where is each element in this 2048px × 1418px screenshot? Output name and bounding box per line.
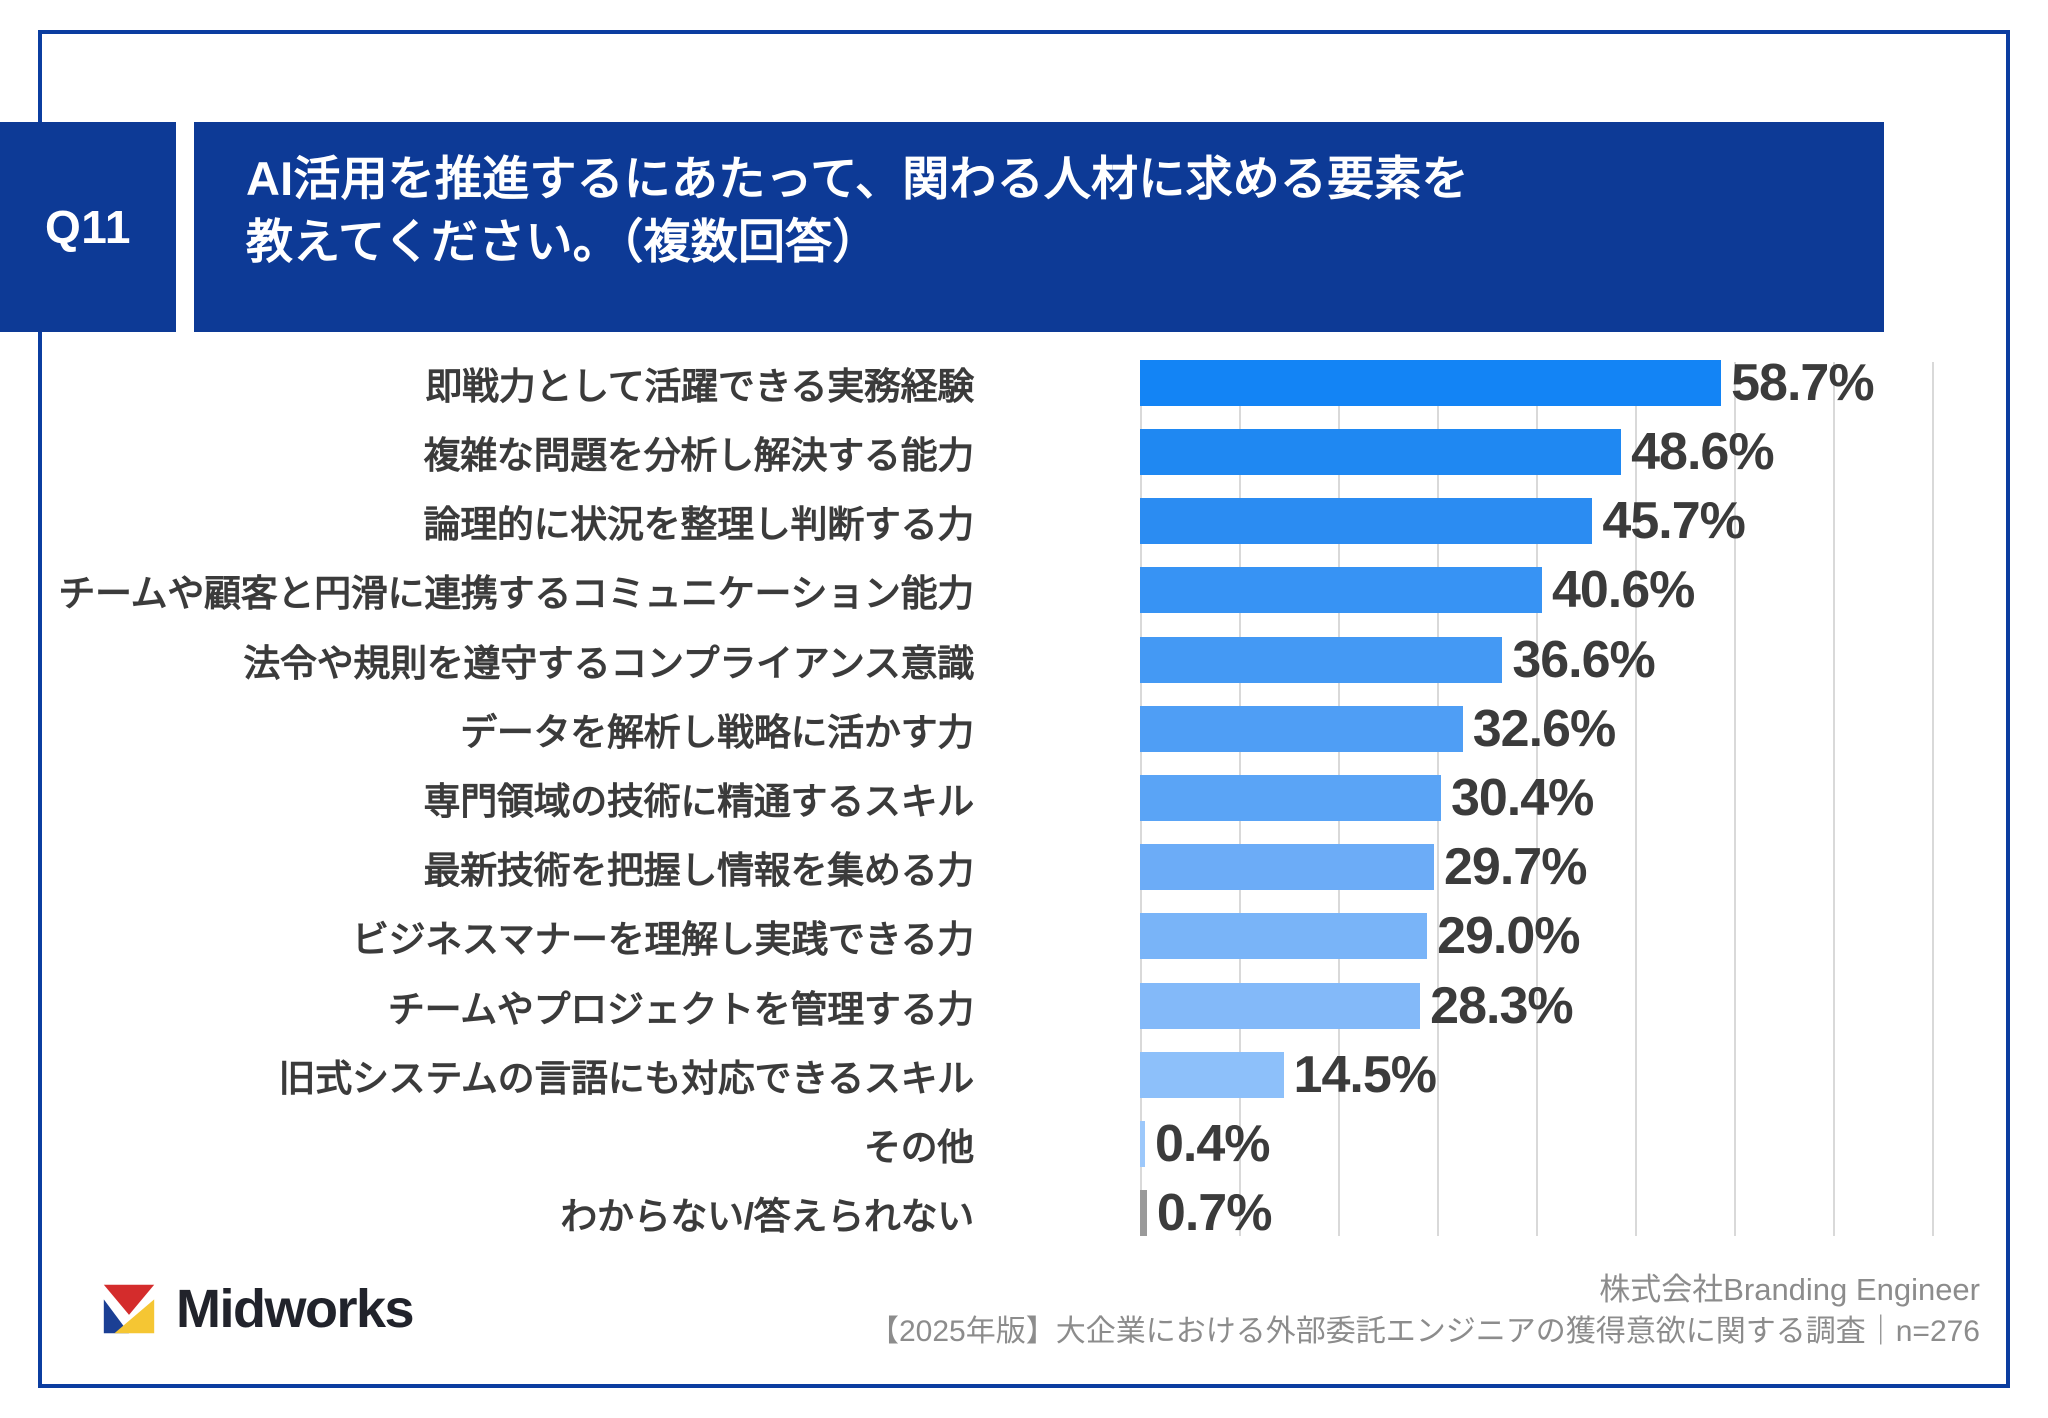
bar-row: 即戦力として活躍できる実務経験58.7% <box>0 348 2048 417</box>
bar-row: 旧式システムの言語にも対応できるスキル14.5% <box>0 1040 2048 1109</box>
bar-row: わからない/答えられない0.7% <box>0 1179 2048 1248</box>
bar <box>1140 429 1621 475</box>
value-label: 30.4% <box>1451 768 1593 828</box>
value-label: 0.4% <box>1155 1114 1270 1174</box>
bar <box>1140 1052 1284 1098</box>
value-label: 40.6% <box>1552 560 1694 620</box>
credit-survey: 【2025年版】大企業における外部委託エンジニアの獲得意欲に関する調査｜n=27… <box>869 1311 1980 1353</box>
midworks-mark-icon <box>98 1278 160 1340</box>
bar-row: データを解析し戦略に活かす力32.6% <box>0 694 2048 763</box>
bar <box>1140 1190 1147 1236</box>
value-label: 14.5% <box>1294 1045 1436 1105</box>
bar-row: チームや顧客と円滑に連携するコミュニケーション能力40.6% <box>0 556 2048 625</box>
bar <box>1140 983 1420 1029</box>
value-label: 28.3% <box>1430 976 1572 1036</box>
question-number-badge: Q11 <box>0 122 176 332</box>
credit-company: 株式会社Branding Engineer <box>869 1268 1980 1311</box>
bar-row: ビジネスマナーを理解し実践できる力29.0% <box>0 902 2048 971</box>
category-label: 最新技術を把握し情報を集める力 <box>424 840 975 894</box>
bar-chart: 即戦力として活躍できる実務経験58.7%複雑な問題を分析し解決する能力48.6%… <box>0 348 2048 1248</box>
category-label: チームや顧客と円滑に連携するコミュニケーション能力 <box>58 563 974 617</box>
value-label: 32.6% <box>1473 699 1615 759</box>
bar <box>1140 844 1434 890</box>
slide-root: Q11 AI活用を推進するにあたって、関わる人材に求める要素を 教えてください。… <box>0 0 2048 1418</box>
category-label: 論理的に状況を整理し判断する力 <box>424 494 975 548</box>
bar-row: 複雑な問題を分析し解決する能力48.6% <box>0 417 2048 486</box>
bar-row: 最新技術を把握し情報を集める力29.7% <box>0 833 2048 902</box>
bar-row: 専門領域の技術に精通するスキル30.4% <box>0 763 2048 832</box>
midworks-wordmark: Midworks <box>176 1282 413 1336</box>
category-label: 専門領域の技術に精通するスキル <box>424 771 975 825</box>
question-number-label: Q11 <box>45 200 131 254</box>
bar <box>1140 706 1463 752</box>
question-title-banner: AI活用を推進するにあたって、関わる人材に求める要素を 教えてください。（複数回… <box>194 122 1884 332</box>
category-label: わからない/答えられない <box>560 1186 974 1240</box>
chart-rows: 即戦力として活躍できる実務経験58.7%複雑な問題を分析し解決する能力48.6%… <box>0 348 2048 1248</box>
value-label: 36.6% <box>1512 630 1654 690</box>
bar-row: 法令や規則を遵守するコンプライアンス意識36.6% <box>0 625 2048 694</box>
credit-block: 株式会社Branding Engineer 【2025年版】大企業における外部委… <box>869 1268 1980 1353</box>
value-label: 45.7% <box>1602 491 1744 551</box>
value-label: 0.7% <box>1157 1183 1272 1243</box>
category-label: 即戦力として活躍できる実務経験 <box>425 356 974 410</box>
category-label: データを解析し戦略に活かす力 <box>460 702 974 756</box>
question-title-line-1: AI活用を推進するにあたって、関わる人材に求める要素を <box>246 148 1844 211</box>
bar-row: 論理的に状況を整理し判断する力45.7% <box>0 486 2048 555</box>
bar <box>1140 1121 1145 1167</box>
bar <box>1140 775 1441 821</box>
value-label: 29.7% <box>1444 837 1586 897</box>
bar <box>1140 913 1427 959</box>
category-label: 旧式システムの言語にも対応できるスキル <box>279 1048 974 1102</box>
bar-row: その他0.4% <box>0 1110 2048 1179</box>
category-label: その他 <box>864 1117 974 1171</box>
category-label: 複雑な問題を分析し解決する能力 <box>424 425 975 479</box>
category-label: ビジネスマナーを理解し実践できる力 <box>352 909 974 963</box>
category-label: チームやプロジェクトを管理する力 <box>388 979 974 1033</box>
bar <box>1140 498 1592 544</box>
bar <box>1140 360 1721 406</box>
bar <box>1140 637 1502 683</box>
value-label: 48.6% <box>1631 422 1773 482</box>
question-title-line-2: 教えてください。（複数回答） <box>246 211 1844 274</box>
value-label: 29.0% <box>1437 906 1579 966</box>
bar-row: チームやプロジェクトを管理する力28.3% <box>0 971 2048 1040</box>
value-label: 58.7% <box>1731 353 1873 413</box>
bar <box>1140 567 1542 613</box>
midworks-logo: Midworks <box>98 1278 413 1340</box>
category-label: 法令や規則を遵守するコンプライアンス意識 <box>243 633 974 687</box>
